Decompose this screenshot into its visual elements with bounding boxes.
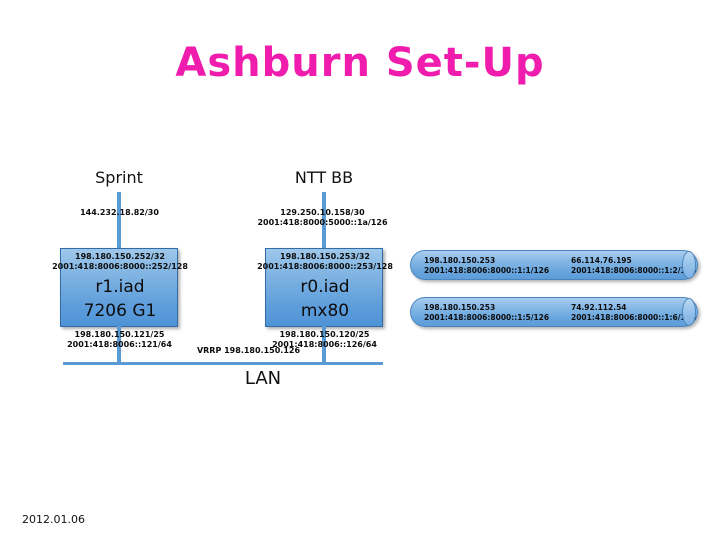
- tunnel-2-local-v4: 198.180.150.253: [424, 303, 549, 313]
- router-r1-loopback-v6: 2001:418:8006:8000::252/128: [47, 262, 193, 272]
- slide-canvas: Ashburn Set-Up Sprint NTT BB 144.232.18.…: [0, 0, 720, 540]
- router-r0-identity: r0.iad mx80: [266, 275, 384, 323]
- router-r0-loopback: 198.180.150.253/32 2001:418:8006:8000::2…: [252, 252, 398, 272]
- router-r1-identity: r1.iad 7206 G1: [61, 275, 179, 323]
- tunnel-1-local-v6: 2001:418:8006:8000::1:1/126: [424, 266, 549, 276]
- tunnel-1-remote-v4: 66.114.76.195: [571, 256, 696, 266]
- router-node-r1[interactable]: 198.180.150.252/32 2001:418:8006:8000::2…: [60, 248, 178, 327]
- router-r0-loopback-v4: 198.180.150.253/32: [252, 252, 398, 262]
- router-r1-loopback-v4: 198.180.150.252/32: [47, 252, 193, 262]
- router-r0-hostname: r0.iad: [266, 275, 384, 299]
- tunnel-1-remote-v6: 2001:418:8006:8000::1:2/126: [571, 266, 696, 276]
- uplink-line-sprint: [117, 192, 121, 250]
- lan-address-r1: 198.180.150.121/25 2001:418:8006::121/64: [47, 330, 192, 350]
- vrrp-address-label: VRRP 198.180.150.126: [176, 346, 321, 355]
- provider-label-sprint: Sprint: [59, 168, 179, 187]
- uplink-ntt-ipv6: 2001:418:8000:5000::1a/126: [250, 218, 395, 228]
- lan-r1-ipv4: 198.180.150.121/25: [47, 330, 192, 340]
- uplink-address-sprint: 144.232.18.82/30: [47, 208, 192, 218]
- router-r1-loopback: 198.180.150.252/32 2001:418:8006:8000::2…: [47, 252, 193, 272]
- tunnel-1-local: 198.180.150.253 2001:418:8006:8000::1:1/…: [424, 256, 549, 276]
- lan-label: LAN: [183, 368, 343, 389]
- router-r0-model: mx80: [266, 299, 384, 323]
- tunnel-1-local-v4: 198.180.150.253: [424, 256, 549, 266]
- provider-label-ntt: NTT BB: [264, 168, 384, 187]
- router-r1-hostname: r1.iad: [61, 275, 179, 299]
- router-r0-loopback-v6: 2001:418:8006:8000::253/128: [252, 262, 398, 272]
- tunnel-1-remote: 66.114.76.195 2001:418:8006:8000::1:2/12…: [571, 256, 696, 276]
- tunnel-2-remote-v4: 74.92.112.54: [571, 303, 696, 313]
- uplink-sprint-ipv4: 144.232.18.82/30: [47, 208, 192, 218]
- page-title: Ashburn Set-Up: [0, 40, 720, 86]
- lan-r1-ipv6: 2001:418:8006::121/64: [47, 340, 192, 350]
- router-node-r0[interactable]: 198.180.150.253/32 2001:418:8006:8000::2…: [265, 248, 383, 327]
- tunnel-2-remote-v6: 2001:418:8006:8000::1:6/126: [571, 313, 696, 323]
- tunnel-cylinder-2[interactable]: 198.180.150.253 2001:418:8006:8000::1:5/…: [410, 297, 698, 327]
- router-r1-model: 7206 G1: [61, 299, 179, 323]
- uplink-ntt-ipv4: 129.250.10.158/30: [250, 208, 395, 218]
- uplink-address-ntt: 129.250.10.158/30 2001:418:8000:5000::1a…: [250, 208, 395, 228]
- tunnel-2-local: 198.180.150.253 2001:418:8006:8000::1:5/…: [424, 303, 549, 323]
- cylinder-end-cap-icon: [682, 298, 696, 326]
- tunnel-2-remote: 74.92.112.54 2001:418:8006:8000::1:6/126: [571, 303, 696, 323]
- lan-bus-line: [63, 362, 383, 365]
- cylinder-end-cap-icon: [682, 251, 696, 279]
- date-stamp: 2012.01.06: [22, 513, 85, 526]
- tunnel-cylinder-1[interactable]: 198.180.150.253 2001:418:8006:8000::1:1/…: [410, 250, 698, 280]
- tunnel-2-local-v6: 2001:418:8006:8000::1:5/126: [424, 313, 549, 323]
- lan-r0-ipv4: 198.180.150.120/25: [252, 330, 397, 340]
